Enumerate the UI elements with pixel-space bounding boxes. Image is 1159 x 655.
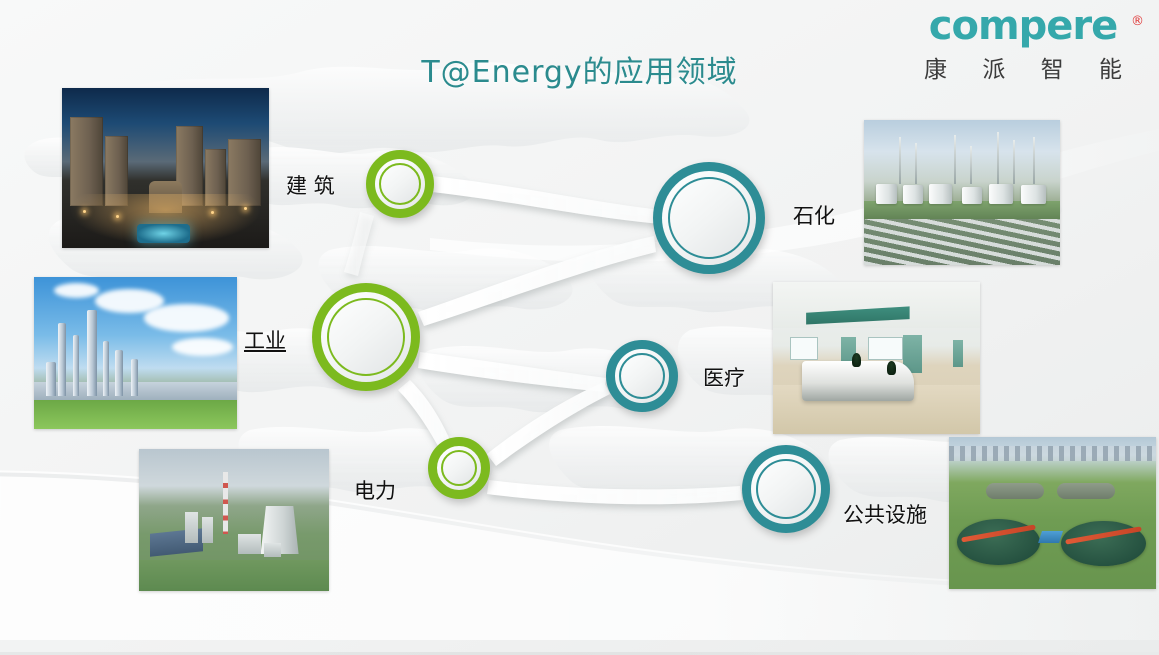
power-photo	[139, 449, 329, 591]
logo-wordmark: compere ®	[903, 6, 1143, 46]
industry-photo	[34, 277, 237, 429]
node-architecture[interactable]	[366, 150, 434, 218]
node-medical[interactable]	[606, 340, 678, 412]
label-power: 电力	[354, 475, 396, 505]
page-title: T@Energy的应用领域	[0, 47, 1159, 91]
label-utilities: 公共设施	[843, 499, 927, 529]
architecture-photo	[62, 88, 269, 248]
label-petrochem: 石化	[793, 200, 835, 230]
node-industry[interactable]	[312, 283, 420, 391]
petrochem-photo	[864, 120, 1060, 265]
utilities-photo	[949, 437, 1156, 589]
node-petrochem[interactable]	[653, 162, 765, 274]
medical-photo	[773, 282, 980, 434]
slide-canvas: compere ® 康 派 智 能 T@Energy的应用领域	[0, 0, 1159, 655]
label-architecture: 建 筑	[286, 170, 335, 200]
node-utilities[interactable]	[742, 445, 830, 533]
node-power[interactable]	[428, 437, 490, 499]
label-medical: 医疗	[703, 362, 745, 392]
label-industry[interactable]: 工业	[244, 325, 286, 355]
registered-trademark-icon: ®	[1131, 2, 1143, 42]
logo-wordmark-text: compere	[929, 3, 1118, 49]
